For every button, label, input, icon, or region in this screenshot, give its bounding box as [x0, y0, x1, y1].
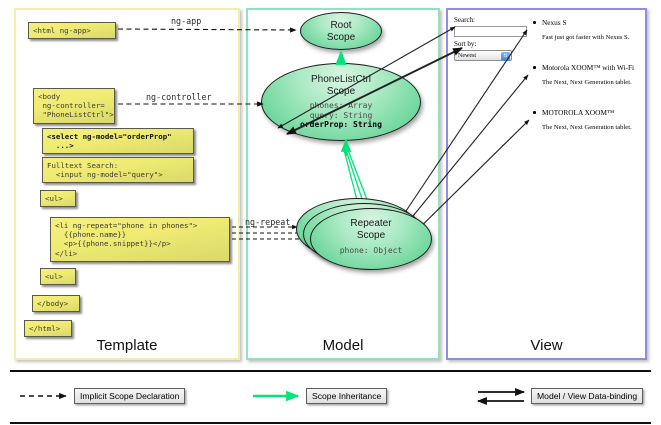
phone-list-item: Motorola XOOM™ with Wi-Fi The Next, Next…	[542, 63, 634, 87]
model-column: Model	[246, 8, 440, 360]
bullet-icon	[533, 111, 536, 114]
scope-repeater-title: Repeater Scope	[311, 218, 431, 241]
scope-repeater: Repeater Scope phone: Object	[310, 208, 432, 270]
bullet-icon	[533, 66, 536, 69]
phone-snippet: Fast just got faster with Nexus S.	[542, 33, 629, 42]
scope-phonelistctrl-title: PhoneListCtrl Scope	[262, 74, 420, 97]
sort-by-selected-value: Newest	[458, 53, 476, 59]
search-input[interactable]	[454, 26, 527, 37]
template-column-label: Template	[16, 337, 238, 354]
code-box-ul-close-tag: <ul>	[40, 268, 76, 285]
scope-phonelistctrl-props: phones: Array query: String	[262, 101, 420, 120]
connector-label-ng-app: ng-app	[171, 16, 201, 26]
search-label: Search:	[454, 16, 475, 24]
view-pane: Search: Sort by: Newest ⇅ Nexus S Fast j…	[446, 8, 647, 360]
phone-name: Motorola XOOM™ with Wi-Fi	[542, 63, 634, 72]
phone-list-item: MOTOROLA XOOM™ The Next, Next Generation…	[542, 108, 632, 132]
connector-label-ng-repeat: ng-repeat	[245, 217, 290, 227]
phone-snippet: The Next, Next Generation tablet.	[542, 123, 632, 132]
scope-phonelistctrl-props-bold: orderProp: String	[262, 120, 420, 130]
bullet-icon	[533, 21, 536, 24]
sort-by-label: Sort by:	[454, 40, 476, 48]
legend-item-implicit-scope-declaration: Implicit Scope Declaration	[74, 388, 185, 404]
scope-phonelistctrl: PhoneListCtrl Scope phones: Array query:…	[261, 63, 421, 141]
phone-snippet: The Next, Next Generation tablet.	[542, 78, 634, 87]
scope-repeater-props: phone: Object	[311, 246, 431, 256]
code-box-body-close-tag: </body>	[32, 295, 80, 312]
scope-root-title: Root Scope	[301, 20, 381, 43]
diagram-canvas: Template Model View <html ng-app> <body …	[0, 0, 661, 425]
code-box-li-repeat-tag: <li ng-repeat="phone in phones"> {{phone…	[50, 217, 230, 262]
code-box-input-tag: Fulltext Search: <input ng-model="query"…	[42, 157, 194, 183]
phone-name: MOTOROLA XOOM™	[542, 108, 632, 117]
scope-root: Root Scope	[300, 12, 382, 50]
connector-label-ng-controller: ng-controller	[146, 92, 212, 102]
legend-item-model-view-data-binding: Model / View Data-binding	[531, 388, 643, 404]
code-box-ul-open-tag: <ul>	[40, 190, 76, 207]
model-column-label: Model	[248, 337, 438, 354]
chevron-updown-icon: ⇅	[501, 52, 510, 61]
legend-rule-top	[10, 370, 651, 372]
legend-item-scope-inheritance: Scope Inheritance	[306, 388, 387, 404]
sort-by-select[interactable]: Newest ⇅	[454, 50, 512, 61]
phone-name: Nexus S	[542, 18, 629, 27]
code-box-select-tag: <select ng-model="orderProp" ...>	[42, 128, 194, 154]
legend: Implicit Scope Declaration Scope Inherit…	[0, 368, 661, 425]
code-box-body-tag: <body ng-controller= "PhoneListCtrl">	[33, 88, 115, 124]
legend-rule-bottom	[10, 422, 651, 424]
code-box-html-tag: <html ng-app>	[28, 22, 116, 39]
code-box-html-close-tag: </html>	[24, 320, 72, 337]
phone-list-item: Nexus S Fast just got faster with Nexus …	[542, 18, 629, 42]
